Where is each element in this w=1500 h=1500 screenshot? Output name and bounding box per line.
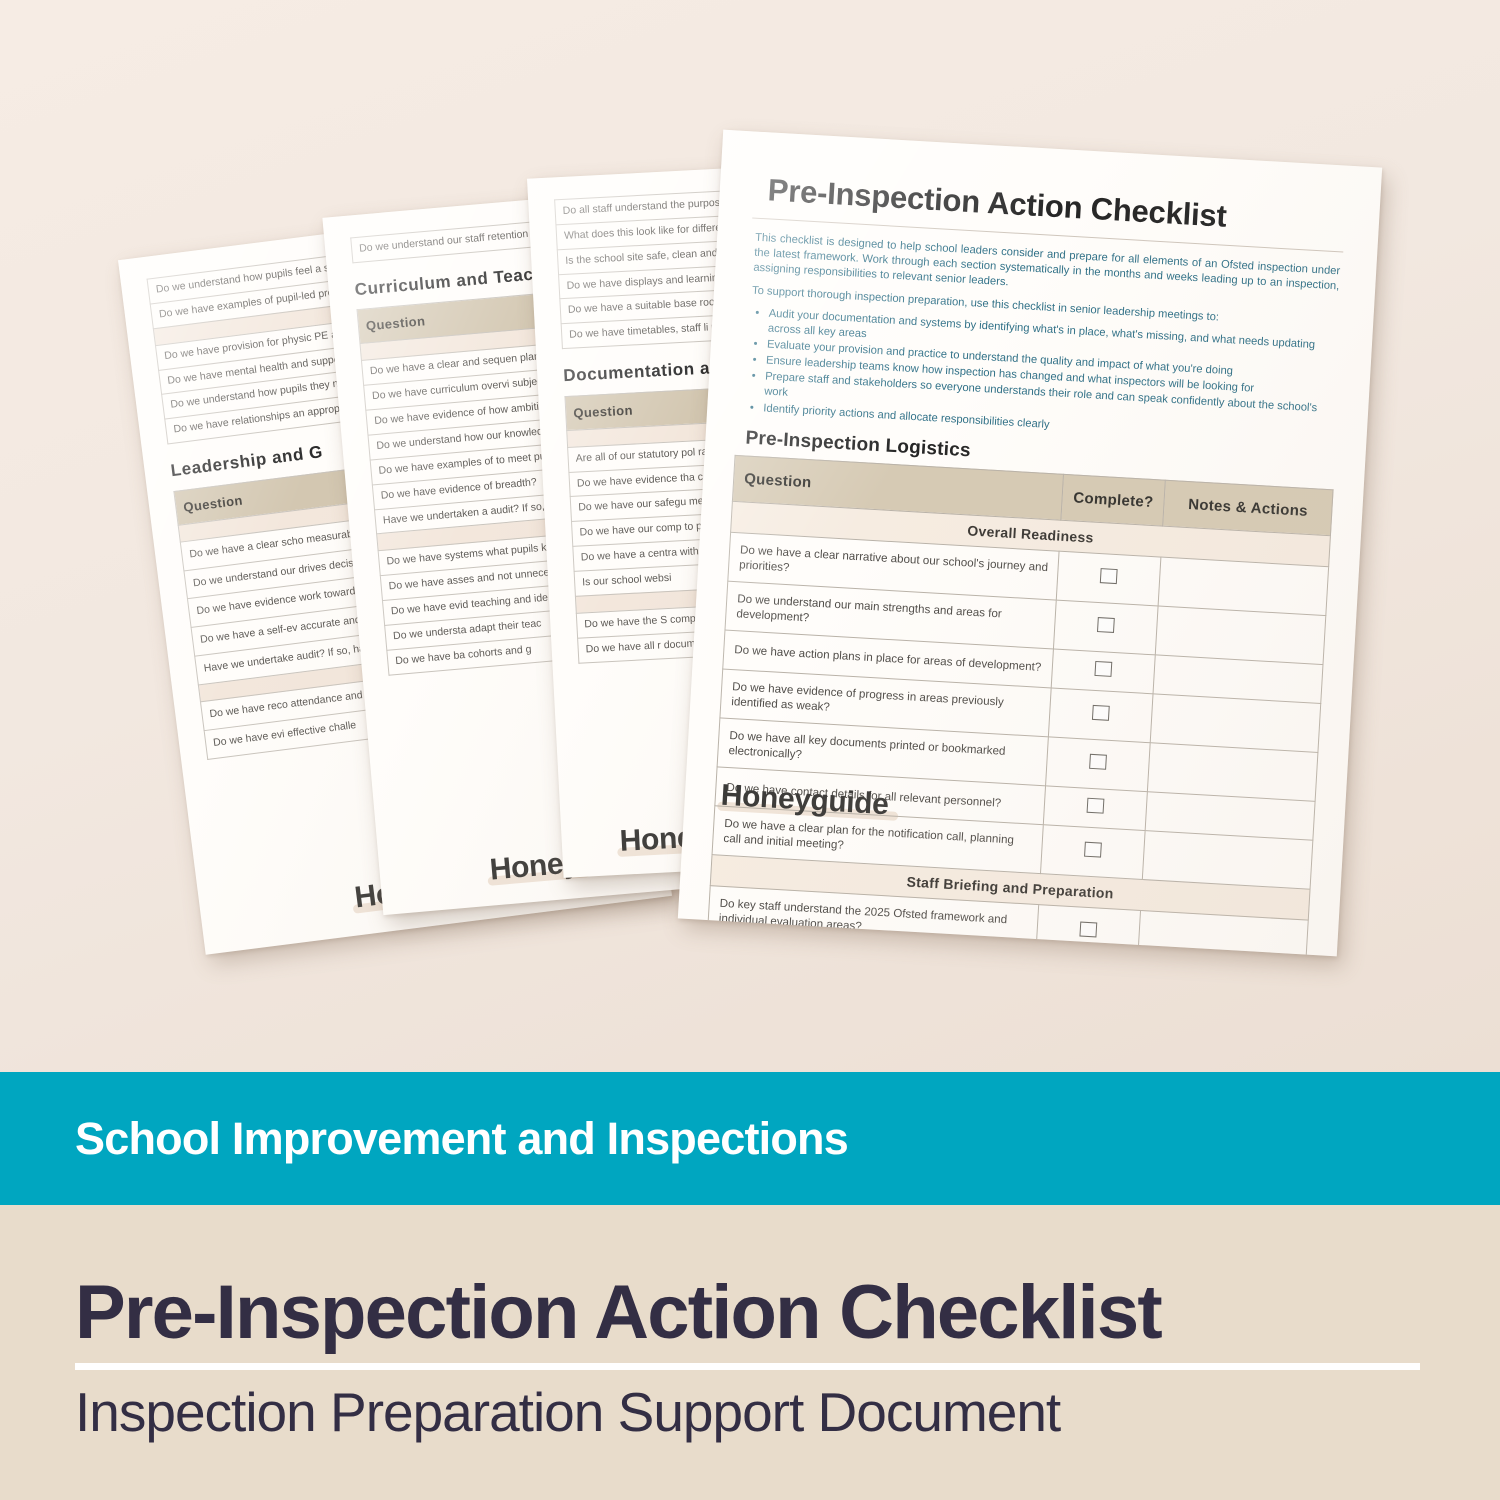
category-banner: School Improvement and Inspections: [0, 1072, 1500, 1205]
complete-cell[interactable]: [1046, 737, 1150, 792]
checkbox[interactable]: [1092, 705, 1110, 721]
poster-title: Pre-Inspection Action Checklist: [75, 1269, 1161, 1356]
complete-cell[interactable]: [1036, 905, 1140, 956]
checkbox[interactable]: [1100, 568, 1118, 584]
checkbox[interactable]: [1089, 754, 1107, 770]
title-rule: [75, 1363, 1420, 1370]
checkbox[interactable]: [1084, 842, 1102, 858]
complete-cell[interactable]: [1044, 786, 1148, 831]
category-label: School Improvement and Inspections: [75, 1113, 848, 1165]
column-header-complete: Complete?: [1061, 474, 1165, 526]
title-banner: Pre-Inspection Action Checklist Inspecti…: [0, 1205, 1500, 1500]
checkbox[interactable]: [1080, 922, 1098, 938]
checkbox[interactable]: [1097, 617, 1115, 633]
complete-cell[interactable]: [1052, 649, 1156, 694]
front-document-content: Pre-Inspection Action Checklist This che…: [678, 130, 1382, 957]
document-sheet-front[interactable]: Pre-Inspection Action Checklist This che…: [678, 130, 1382, 957]
intro-bullet-list: Audit your documentation and systems by …: [763, 307, 1342, 450]
poster-canvas: Do we understand how pupils feel a safet…: [0, 0, 1500, 1500]
checkbox[interactable]: [1095, 661, 1113, 677]
poster-subtitle: Inspection Preparation Support Document: [75, 1380, 1060, 1444]
complete-cell[interactable]: [1049, 688, 1153, 743]
hero-photo-area: Do we understand how pupils feel a safet…: [0, 0, 1500, 1072]
checklist-table: Question Complete? Notes & Actions Overa…: [707, 455, 1334, 957]
checkbox[interactable]: [1087, 798, 1105, 814]
complete-cell[interactable]: [1041, 825, 1145, 880]
complete-cell[interactable]: [1054, 600, 1158, 655]
complete-cell[interactable]: [1057, 551, 1161, 606]
document-title: Pre-Inspection Action Checklist: [767, 172, 1350, 241]
